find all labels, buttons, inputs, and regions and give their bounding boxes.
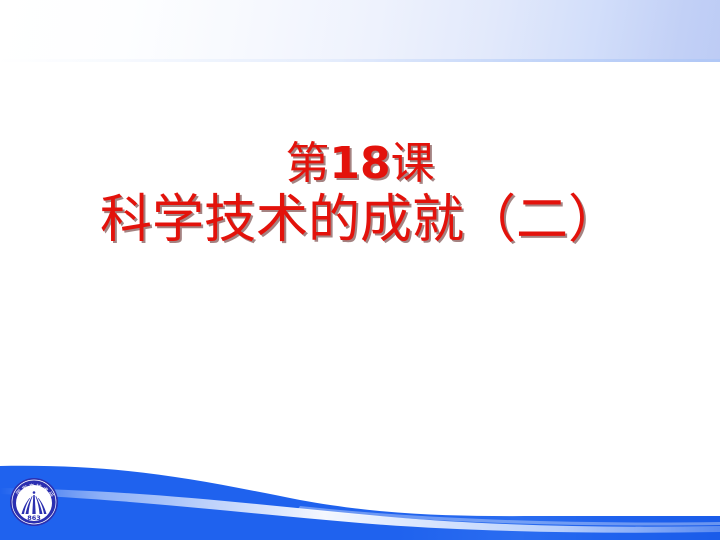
slide-title: 第18课 科学技术的成就（二） xyxy=(0,142,720,246)
top-gradient-band xyxy=(0,0,720,62)
title-line-1: 第18课 xyxy=(0,142,720,186)
emblem-number-label: 863 xyxy=(27,514,41,522)
bottom-wave-decoration xyxy=(0,444,720,540)
title-line-2: 科学技术的成就（二） xyxy=(0,194,720,246)
title-line-1-prefix: 第 xyxy=(285,138,329,189)
title-lesson-number: 18 xyxy=(329,138,390,189)
title-line-1-suffix: 课 xyxy=(391,138,435,189)
slide-canvas: 第18课 科学技术的成就（二） xyxy=(0,0,720,540)
863-program-logo: 国家高技术研究 863 xyxy=(9,477,59,527)
